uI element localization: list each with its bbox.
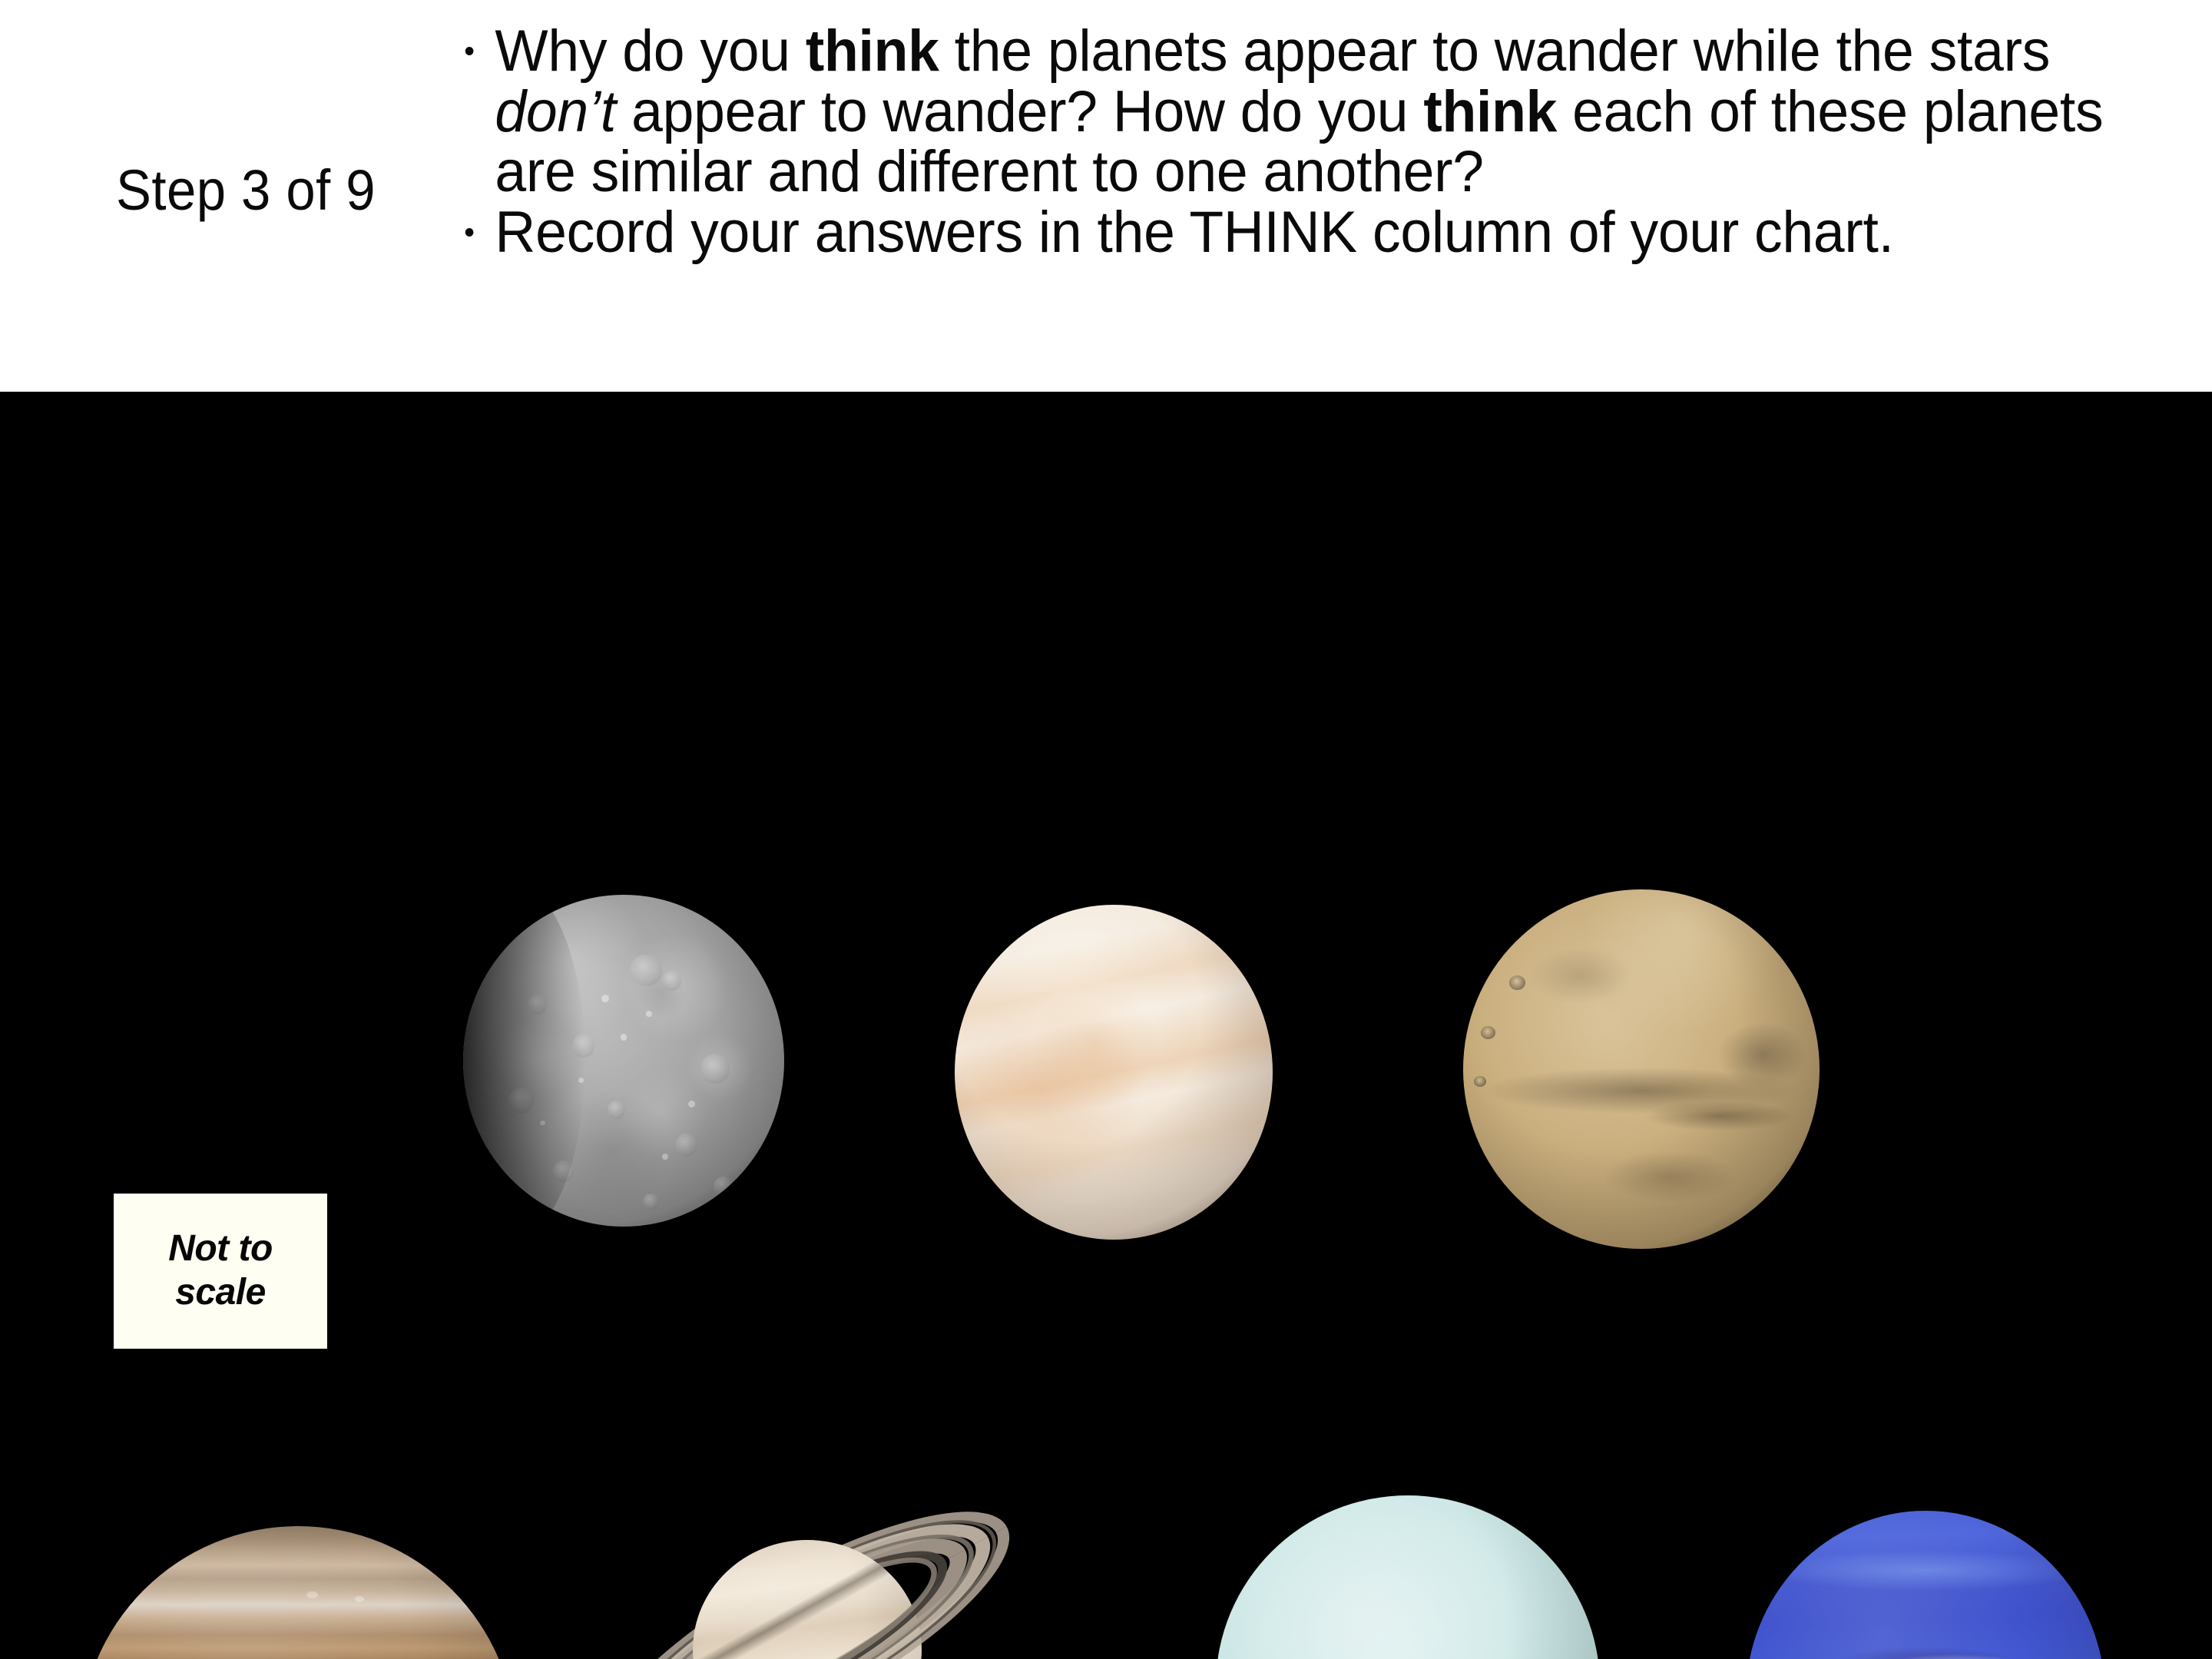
- bullet-item-record: Record your answers in the THINK column …: [461, 203, 2136, 263]
- bullet-dot-icon: [465, 228, 474, 237]
- bullet-segment-emphasis: think: [1423, 79, 1557, 144]
- bullet-segment-text: Record your answers in the THINK column …: [495, 200, 1893, 265]
- bullet-segment-emphasis: think: [806, 18, 939, 84]
- planet-neptune: [1746, 1511, 2105, 1659]
- bullet-segment-text: the planets appear to wander while the s…: [939, 18, 2051, 84]
- bullet-item-question: Why do you think the planets appear to w…: [461, 22, 2136, 203]
- not-to-scale-callout: Not to scale: [114, 1194, 327, 1349]
- mercury-terminator-shadow: [463, 895, 585, 1227]
- instruction-header: Step 3 of 9 Why do you think the planets…: [0, 0, 2212, 392]
- space-backdrop: Not to scale: [0, 392, 2212, 1659]
- instruction-bullet-list: Why do you think the planets appear to w…: [461, 22, 2197, 263]
- bullet-segment-italic: don’t: [495, 79, 616, 144]
- planet-mars: [1463, 889, 1820, 1249]
- planet-venus: [955, 905, 1273, 1240]
- planet-jupiter: [80, 1526, 516, 1659]
- planet-mercury: [463, 895, 784, 1227]
- slide-canvas: Step 3 of 9 Why do you think the planets…: [0, 0, 2212, 1659]
- bullet-segment-text: appear to wander? How do you: [616, 79, 1423, 144]
- step-indicator: Step 3 of 9: [46, 157, 446, 223]
- bullet-segment-text: Why do you: [495, 18, 805, 84]
- planet-saturn: [576, 1407, 1037, 1659]
- not-to-scale-line-1: Not to: [168, 1227, 273, 1271]
- not-to-scale-line-2: scale: [175, 1271, 266, 1315]
- planet-uranus: [1216, 1495, 1600, 1659]
- bullet-dot-icon: [465, 47, 474, 55]
